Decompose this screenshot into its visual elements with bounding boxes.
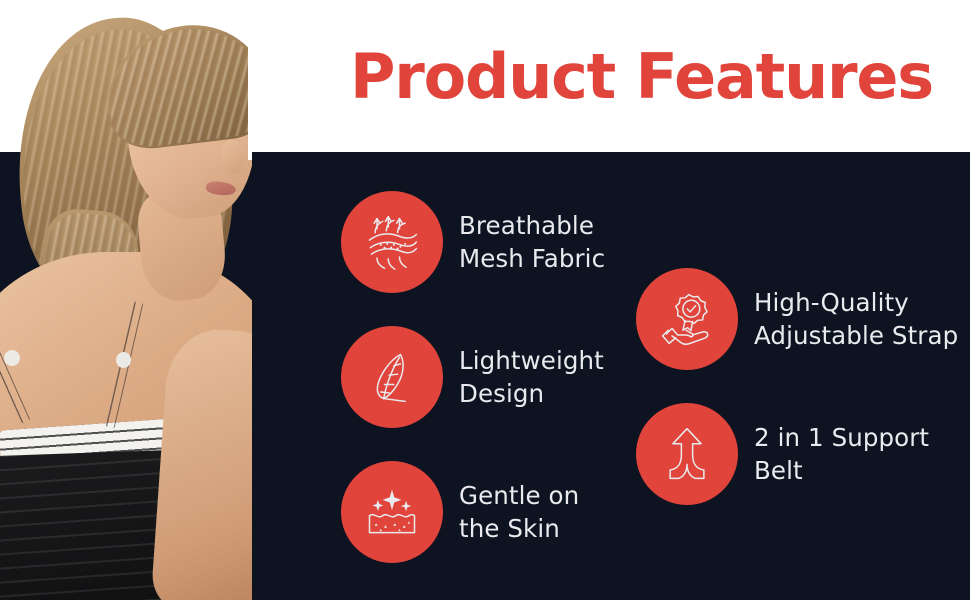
page-title: Product Features [350, 44, 910, 110]
feature-label: Breathable Mesh Fabric [459, 209, 605, 275]
hand-quality-badge-icon [636, 268, 738, 370]
feather-icon [341, 326, 443, 428]
photo-mask-top [248, 0, 308, 160]
feature-label: 2 in 1 Support Belt [754, 421, 929, 487]
feature-breathable-mesh-fabric: Breathable Mesh Fabric [341, 191, 631, 293]
nose [222, 140, 244, 174]
skin-sparkle-icon [341, 461, 443, 563]
feature-label: High-Quality Adjustable Strap [754, 286, 958, 352]
feature-lightweight-design: Lightweight Design [341, 326, 631, 428]
feature-label: Gentle on the Skin [459, 479, 579, 545]
feature-label: Lightweight Design [459, 344, 604, 410]
feature-column-right: High-Quality Adjustable Strap 2 in 1 Sup… [636, 268, 970, 505]
feature-2-in-1-support-belt: 2 in 1 Support Belt [636, 403, 970, 505]
model-photo [0, 0, 300, 600]
product-features-banner: Product Features [0, 0, 970, 600]
strap-ring [4, 350, 20, 366]
breathable-mesh-icon [341, 191, 443, 293]
feature-column-left: Breathable Mesh Fabric Lightweight Desig… [341, 191, 631, 563]
photo-mask-bottom [252, 152, 312, 600]
feature-high-quality-adjustable-strap: High-Quality Adjustable Strap [636, 268, 970, 370]
feature-gentle-on-the-skin: Gentle on the Skin [341, 461, 631, 563]
merge-arrow-icon [636, 403, 738, 505]
